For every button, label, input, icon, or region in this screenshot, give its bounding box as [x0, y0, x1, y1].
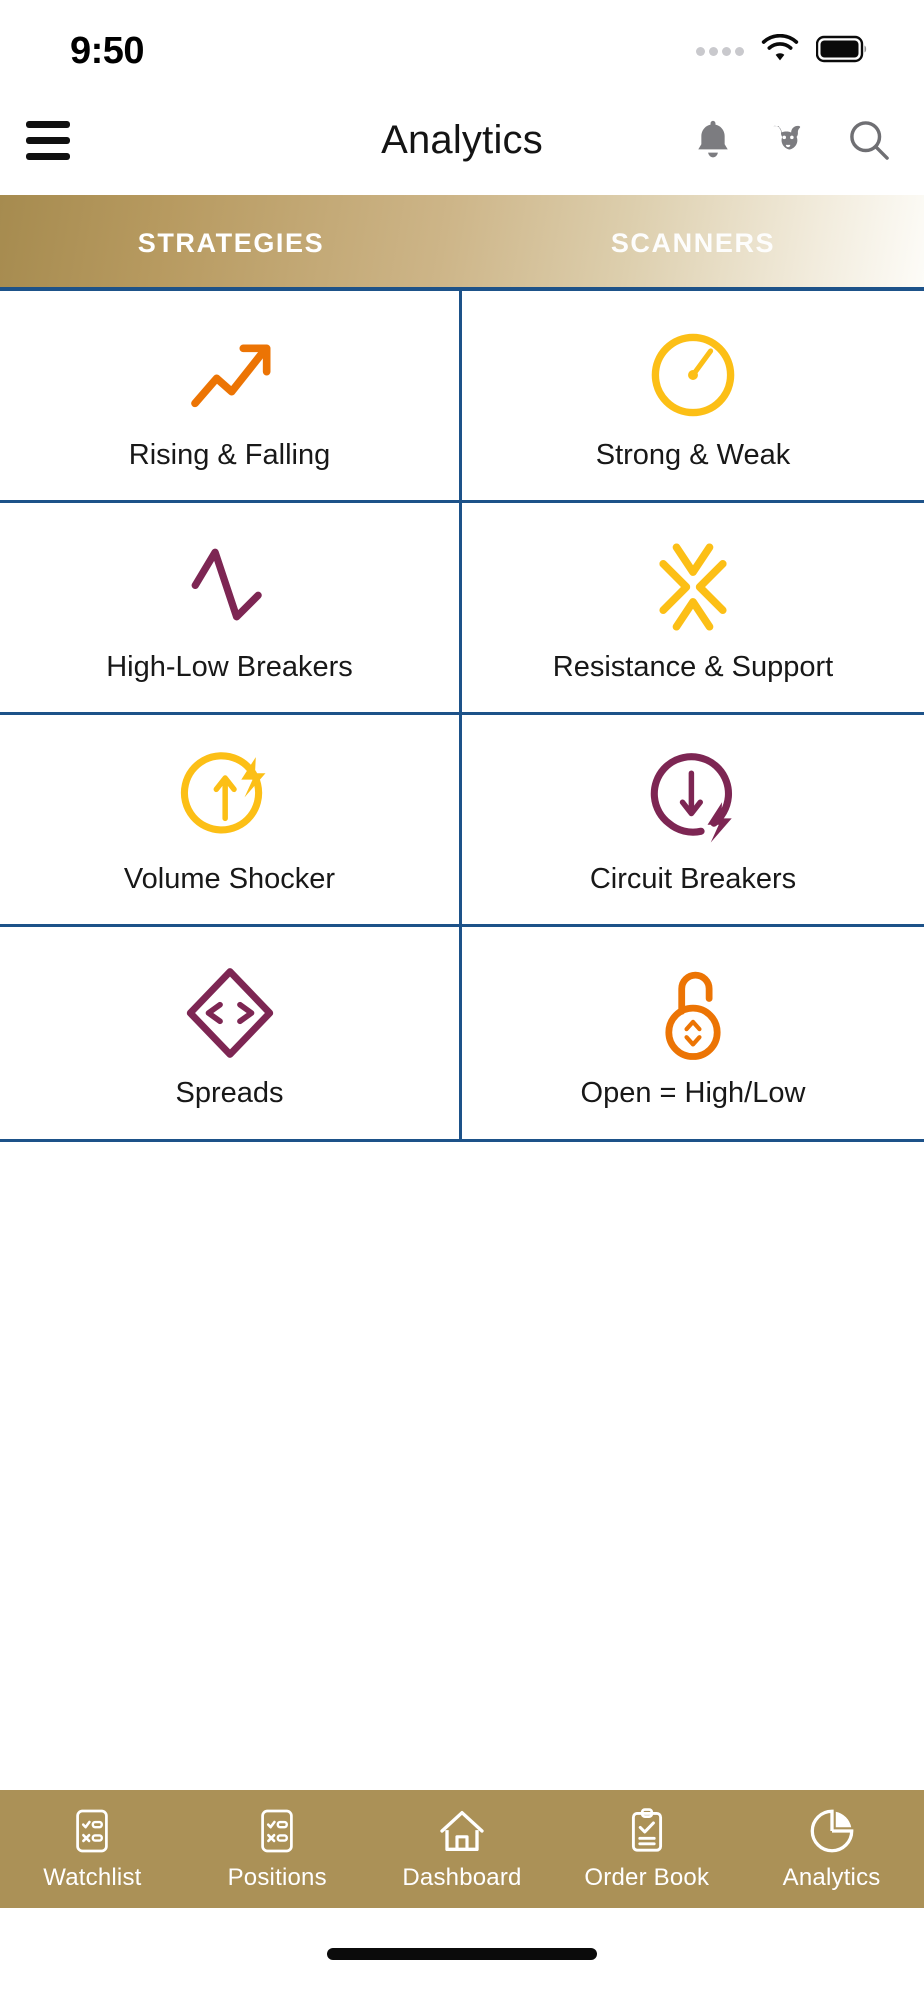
hamburger-menu-icon[interactable] [18, 110, 78, 170]
wifi-icon [760, 34, 800, 69]
grid-cell-label: Rising & Falling [129, 439, 330, 472]
grid-cell-label: High-Low Breakers [106, 651, 353, 684]
nav-item-label: Order Book [584, 1864, 709, 1892]
lock-updown-chevron-icon [643, 963, 743, 1063]
zigzag-high-low-icon [180, 537, 280, 637]
signal-dots-icon [696, 47, 744, 56]
gauge-speedometer-icon [645, 325, 741, 425]
diamond-chevrons-icon [180, 963, 280, 1063]
app-header: Analytics [0, 85, 924, 195]
strategy-scanner-tabs: STRATEGIES SCANNERS [0, 195, 924, 291]
grid-cell-label: Open = High/Low [581, 1077, 806, 1110]
home-house-icon [437, 1806, 487, 1856]
circle-up-arrow-bolt-icon [180, 749, 280, 849]
strategy-grid: Rising & Falling Strong & Weak High-Low … [0, 291, 924, 1142]
tab-scanners[interactable]: SCANNERS [462, 195, 924, 291]
battery-icon [816, 35, 868, 68]
grid-cell-label: Spreads [175, 1077, 283, 1110]
nav-item-label: Watchlist [43, 1864, 141, 1892]
grid-cell-label: Resistance & Support [553, 651, 833, 684]
clipboard-check-icon [625, 1806, 669, 1856]
grid-cell-label: Volume Shocker [124, 863, 335, 896]
bull-icon[interactable] [768, 117, 814, 163]
grid-cell-spreads[interactable]: Spreads [0, 927, 462, 1139]
nav-item-watchlist[interactable]: Watchlist [0, 1806, 185, 1892]
double-chevron-cross-icon [643, 537, 743, 637]
pie-chart-icon [809, 1806, 855, 1856]
nav-item-label: Positions [228, 1864, 327, 1892]
grid-cell-circuit-breakers[interactable]: Circuit Breakers [462, 715, 924, 927]
notification-bell-icon[interactable] [690, 117, 736, 163]
grid-cell-resistance-support[interactable]: Resistance & Support [462, 503, 924, 715]
status-bar: 9:50 [0, 0, 924, 85]
status-indicators [696, 34, 868, 69]
home-indicator-area [0, 1908, 924, 2000]
grid-cell-strong-weak[interactable]: Strong & Weak [462, 291, 924, 503]
grid-cell-label: Circuit Breakers [590, 863, 796, 896]
nav-item-positions[interactable]: Positions [185, 1806, 370, 1892]
tab-strategies[interactable]: STRATEGIES [0, 195, 462, 291]
nav-item-label: Analytics [783, 1864, 881, 1892]
trend-up-arrow-icon [180, 325, 280, 425]
header-actions [690, 117, 892, 163]
checklist-note-icon [255, 1806, 299, 1856]
bottom-navigation: Watchlist Positions Dashboard [0, 1790, 924, 1908]
status-time: 9:50 [70, 30, 144, 73]
nav-item-label: Dashboard [402, 1864, 521, 1892]
nav-item-analytics[interactable]: Analytics [739, 1806, 924, 1892]
circle-down-arrow-bolt-icon [643, 749, 743, 849]
nav-item-order-book[interactable]: Order Book [554, 1806, 739, 1892]
search-icon[interactable] [846, 117, 892, 163]
grid-cell-open-high-low[interactable]: Open = High/Low [462, 927, 924, 1139]
page-title: Analytics [381, 118, 543, 163]
grid-cell-rising-falling[interactable]: Rising & Falling [0, 291, 462, 503]
nav-item-dashboard[interactable]: Dashboard [370, 1806, 555, 1892]
grid-cell-volume-shocker[interactable]: Volume Shocker [0, 715, 462, 927]
home-indicator-bar[interactable] [327, 1948, 597, 1960]
grid-cell-high-low-breakers[interactable]: High-Low Breakers [0, 503, 462, 715]
checklist-note-icon [70, 1806, 114, 1856]
grid-cell-label: Strong & Weak [596, 439, 791, 472]
